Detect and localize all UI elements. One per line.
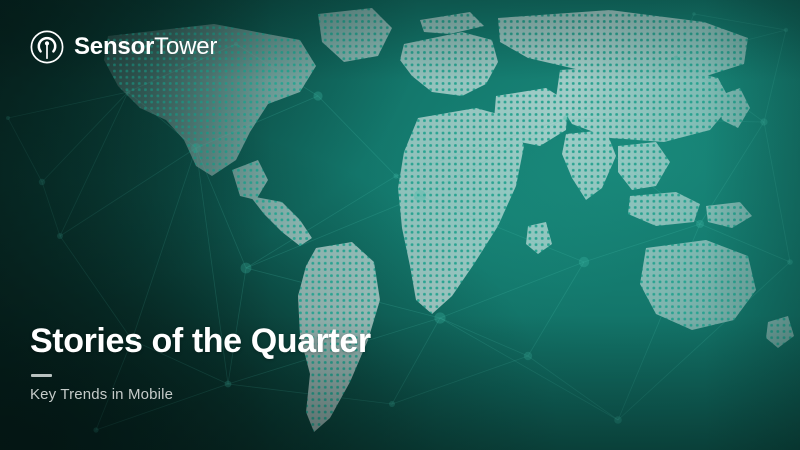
sensor-tower-logo: SensorTower: [29, 29, 217, 65]
presentation-slide: SensorTower Stories of the Quarter Key T…: [0, 0, 800, 450]
brand-name-light: Tower: [154, 33, 217, 60]
brand-name-bold: Sensor: [74, 33, 154, 60]
page-subtitle: Key Trends in Mobile: [30, 386, 371, 404]
page-title: Stories of the Quarter: [30, 323, 371, 360]
brand-wordmark: SensorTower: [74, 35, 217, 59]
sensor-tower-antenna-icon: [29, 29, 65, 65]
title-block: Stories of the Quarter Key Trends in Mob…: [30, 323, 371, 404]
title-divider-rule: [31, 374, 52, 377]
